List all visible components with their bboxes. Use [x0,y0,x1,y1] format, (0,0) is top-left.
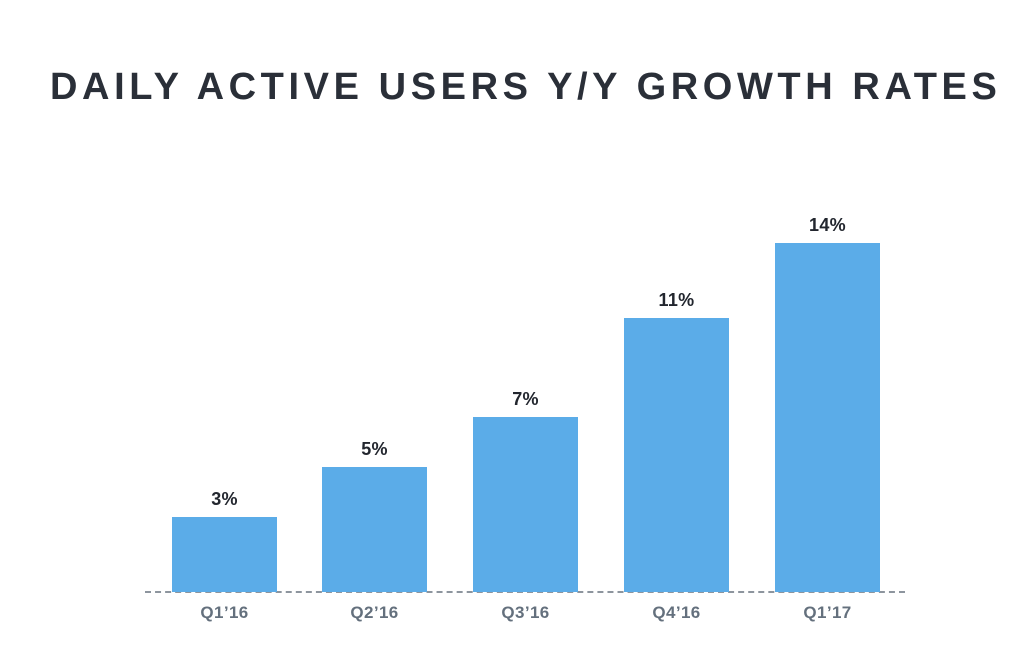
bar-category-label: Q3’16 [455,603,596,623]
chart-slide: DAILY ACTIVE USERS Y/Y GROWTH RATES 3% Q… [0,0,1023,663]
bar-q1-16[interactable] [172,517,277,592]
bar-q4-16[interactable] [624,318,729,592]
bar-group-q2-16: 5% Q2’16 [322,467,427,592]
bar-q1-17[interactable] [775,243,880,592]
bar-category-label: Q1’17 [757,603,898,623]
bar-category-label: Q1’16 [154,603,295,623]
bar-q3-16[interactable] [473,417,578,592]
bar-category-label: Q2’16 [304,603,445,623]
bar-group-q3-16: 7% Q3’16 [473,417,578,592]
bar-value-label: 11% [624,290,729,310]
bar-value-label: 14% [775,215,880,235]
bar-q2-16[interactable] [322,467,427,592]
bar-value-label: 3% [172,489,277,509]
bar-group-q1-16: 3% Q1’16 [172,517,277,592]
bar-group-q4-16: 11% Q4’16 [624,318,729,592]
bar-value-label: 7% [473,389,578,409]
bar-category-label: Q4’16 [606,603,747,623]
chart-plot-area: 3% Q1’16 5% Q2’16 7% Q3’16 11% Q4’16 14%… [0,0,1023,663]
bar-group-q1-17: 14% Q1’17 [775,243,880,592]
bar-value-label: 5% [322,439,427,459]
